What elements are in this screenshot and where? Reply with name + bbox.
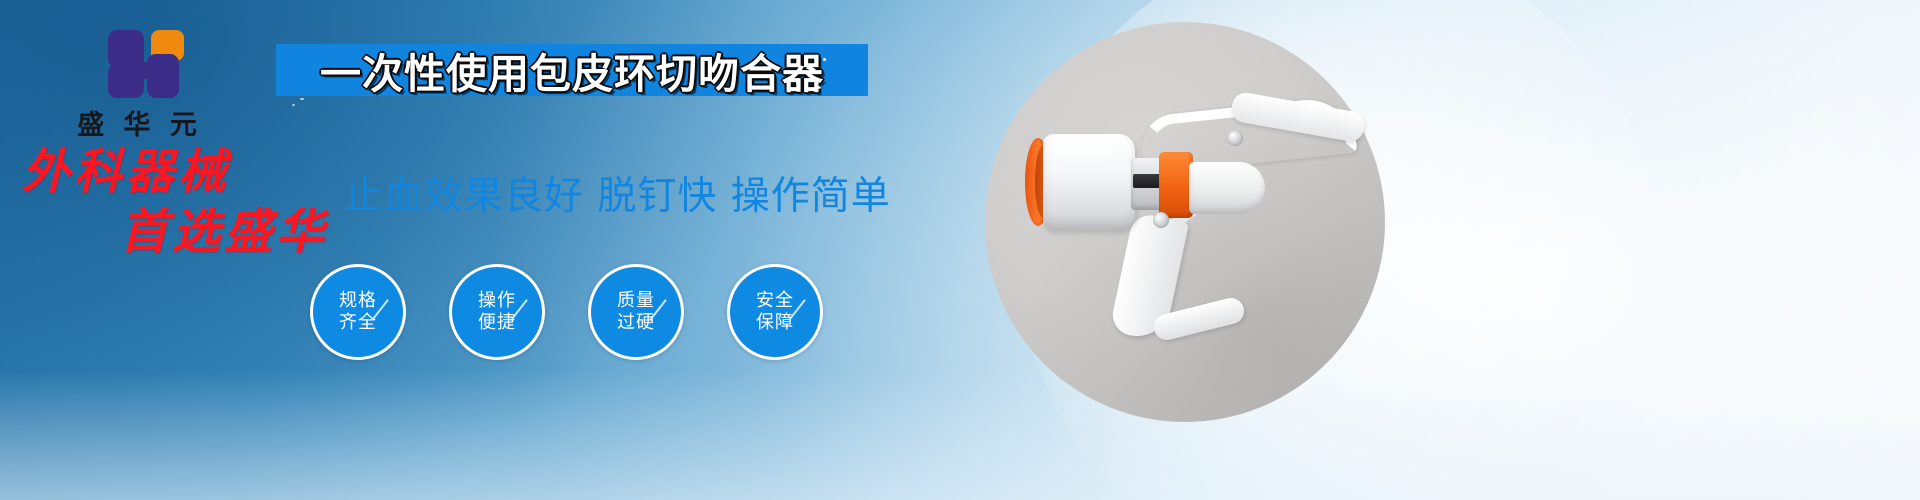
brand-logo-block: 盛 华 元 [62, 28, 212, 142]
sparkle-icon [796, 82, 800, 85]
device-tip [1189, 162, 1265, 214]
device-pivot-screw [1153, 212, 1169, 228]
company-name: 盛 华 元 [62, 103, 212, 142]
shenghuayuan-logo-icon [94, 28, 180, 98]
promo-banner: 盛 华 元 外科器械 首选盛华 一次性使用包皮环切吻合器 止血效果良好 脱钉快 … [0, 0, 1920, 500]
feature-label-line1: 操作 [478, 290, 516, 313]
device-orange-block [1159, 152, 1193, 218]
feature-label-line2: 齐全 [339, 312, 377, 335]
sparkle-icon [815, 86, 821, 89]
feature-label-line2: 过硬 [617, 312, 655, 335]
feature-label-line1: 规格 [339, 290, 377, 313]
logo-square-right [147, 54, 179, 98]
title-ribbon: 一次性使用包皮环切吻合器 [276, 44, 868, 96]
feature-label-line1: 质量 [617, 290, 655, 313]
page-title: 一次性使用包皮环切吻合器 [320, 40, 824, 100]
device-pivot-screw [1227, 130, 1243, 146]
calligraphy-line-1: 外科器械 [0, 148, 360, 196]
device-barrel-highlight [1055, 142, 1113, 164]
calligraphy-slogan: 外科器械 首选盛华 [0, 148, 360, 256]
feature-circle-list: 规格 齐全 操作 便捷 质量 过硬 安全 保障 [310, 264, 823, 360]
sparkle-icon [292, 104, 295, 106]
subtitle-text: 止血效果良好 脱钉快 操作简单 [344, 165, 891, 221]
calligraphy-line-2: 首选盛华 [0, 208, 360, 256]
feature-circle-specifications[interactable]: 规格 齐全 [310, 264, 406, 360]
circumcision-stapler-device-icon [1003, 110, 1373, 340]
feature-circle-quality[interactable]: 质量 过硬 [588, 264, 684, 360]
sparkle-icon [823, 58, 826, 61]
logo-square-bottom-left [108, 64, 144, 98]
feature-circle-safety[interactable]: 安全 保障 [727, 264, 823, 360]
background-bottom-fade [0, 370, 1920, 500]
feature-label-line2: 保障 [756, 312, 794, 335]
feature-label-line1: 安全 [756, 290, 794, 313]
sparkle-icon [300, 98, 304, 100]
feature-circle-operation[interactable]: 操作 便捷 [449, 264, 545, 360]
feature-label-line2: 便捷 [478, 312, 516, 335]
product-photo [985, 22, 1405, 442]
